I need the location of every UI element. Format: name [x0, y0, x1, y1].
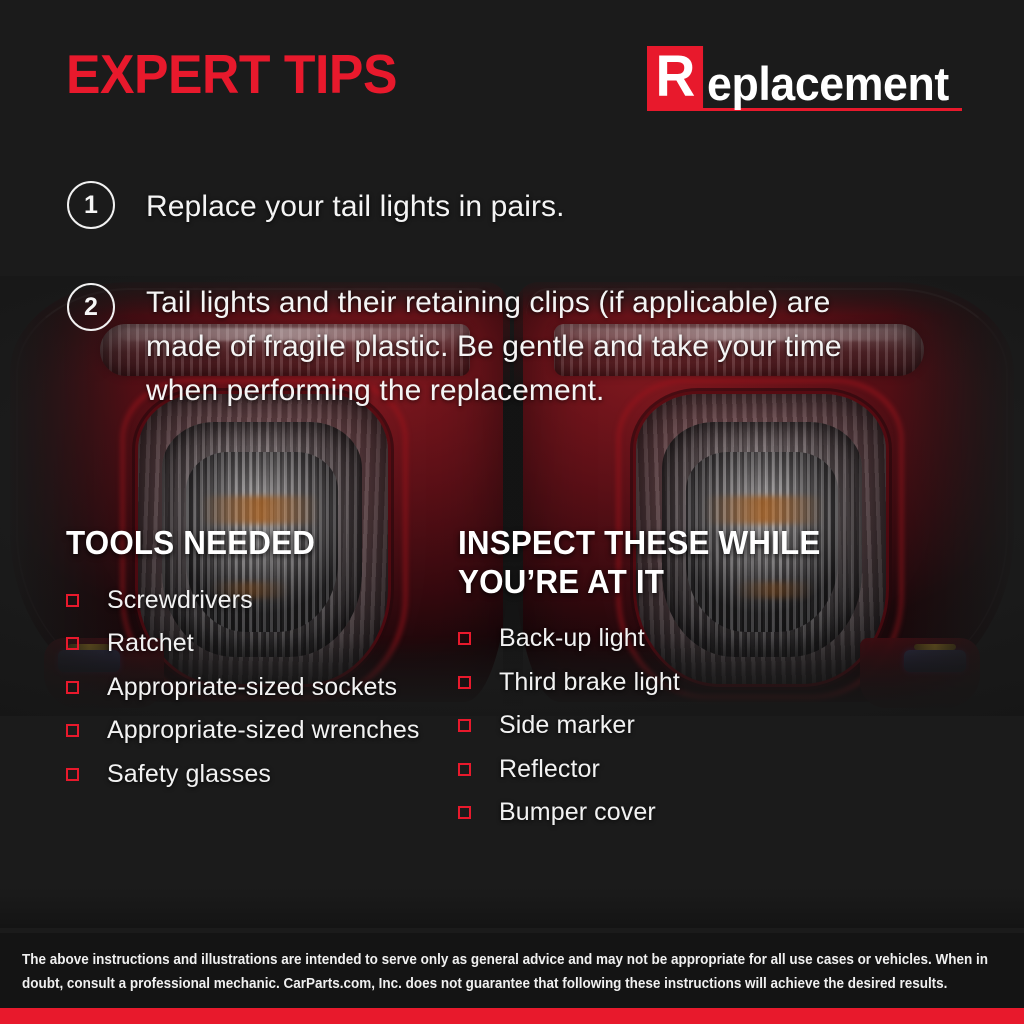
lamp-wire	[914, 644, 956, 650]
list-item: Ratchet	[66, 630, 456, 658]
footer-fade	[0, 888, 1024, 928]
checkbox-square-icon	[66, 594, 79, 607]
list-item: Third brake light	[458, 669, 858, 697]
list-item: Reflector	[458, 756, 858, 784]
footer-disclaimer-bar: The above instructions and illustrations…	[0, 933, 1024, 1008]
lamp-bumper-tab	[860, 638, 980, 708]
disclaimer-text: The above instructions and illustrations…	[22, 949, 997, 996]
tip-text: Replace your tail lights in pairs.	[146, 185, 565, 229]
list-item-label: Side marker	[499, 712, 635, 740]
brand-logo: R eplacement	[647, 46, 962, 111]
logo-initial: R	[647, 46, 703, 110]
list-item-label: Safety glasses	[107, 761, 271, 789]
lamp-connector	[904, 650, 966, 672]
checkbox-square-icon	[66, 724, 79, 737]
checkbox-square-icon	[66, 681, 79, 694]
list-item-label: Screwdrivers	[107, 587, 253, 615]
checkbox-square-icon	[458, 806, 471, 819]
list-item-label: Third brake light	[499, 669, 680, 697]
page-title: EXPERT TIPS	[66, 47, 397, 102]
tools-needed-list: Screwdrivers Ratchet Appropriate-sized s…	[66, 587, 456, 789]
list-item: Appropriate-sized wrenches	[66, 717, 456, 745]
tools-needed-section: TOOLS NEEDED Screwdrivers Ratchet Approp…	[66, 524, 456, 804]
list-item: Side marker	[458, 712, 858, 740]
tip-number-badge: 2	[67, 283, 115, 331]
checkbox-square-icon	[458, 632, 471, 645]
logo-wordmark: eplacement	[707, 60, 949, 107]
list-item: Screwdrivers	[66, 587, 456, 615]
list-item-label: Appropriate-sized wrenches	[107, 717, 419, 745]
list-item-label: Bumper cover	[499, 799, 656, 827]
list-item-label: Appropriate-sized sockets	[107, 674, 397, 702]
list-item: Appropriate-sized sockets	[66, 674, 456, 702]
list-item-label: Back-up light	[499, 625, 645, 653]
tip-number-badge: 1	[67, 181, 115, 229]
checkbox-square-icon	[458, 763, 471, 776]
inspect-heading: INSPECT THESE WHILE YOU’RE AT IT	[458, 524, 838, 601]
list-item: Safety glasses	[66, 761, 456, 789]
checkbox-square-icon	[66, 768, 79, 781]
checkbox-square-icon	[458, 719, 471, 732]
list-item-label: Reflector	[499, 756, 600, 784]
inspect-section: INSPECT THESE WHILE YOU’RE AT IT Back-up…	[458, 524, 858, 843]
lamp-amber-turn-signal	[200, 496, 320, 524]
tools-needed-heading: TOOLS NEEDED	[66, 524, 437, 563]
checkbox-square-icon	[66, 637, 79, 650]
list-item: Bumper cover	[458, 799, 858, 827]
list-item: Back-up light	[458, 625, 858, 653]
tip-text: Tail lights and their retaining clips (i…	[146, 281, 906, 413]
lamp-amber-turn-signal	[704, 496, 824, 524]
checkbox-square-icon	[458, 676, 471, 689]
list-item-label: Ratchet	[107, 630, 194, 658]
tip-item-2: 2 Tail lights and their retaining clips …	[67, 283, 906, 413]
tip-item-1: 1 Replace your tail lights in pairs.	[67, 181, 565, 229]
inspect-list: Back-up light Third brake light Side mar…	[458, 625, 858, 827]
bottom-accent-bar	[0, 1008, 1024, 1024]
infographic-canvas: EXPERT TIPS R eplacement 1 Replace your …	[0, 0, 1024, 1024]
